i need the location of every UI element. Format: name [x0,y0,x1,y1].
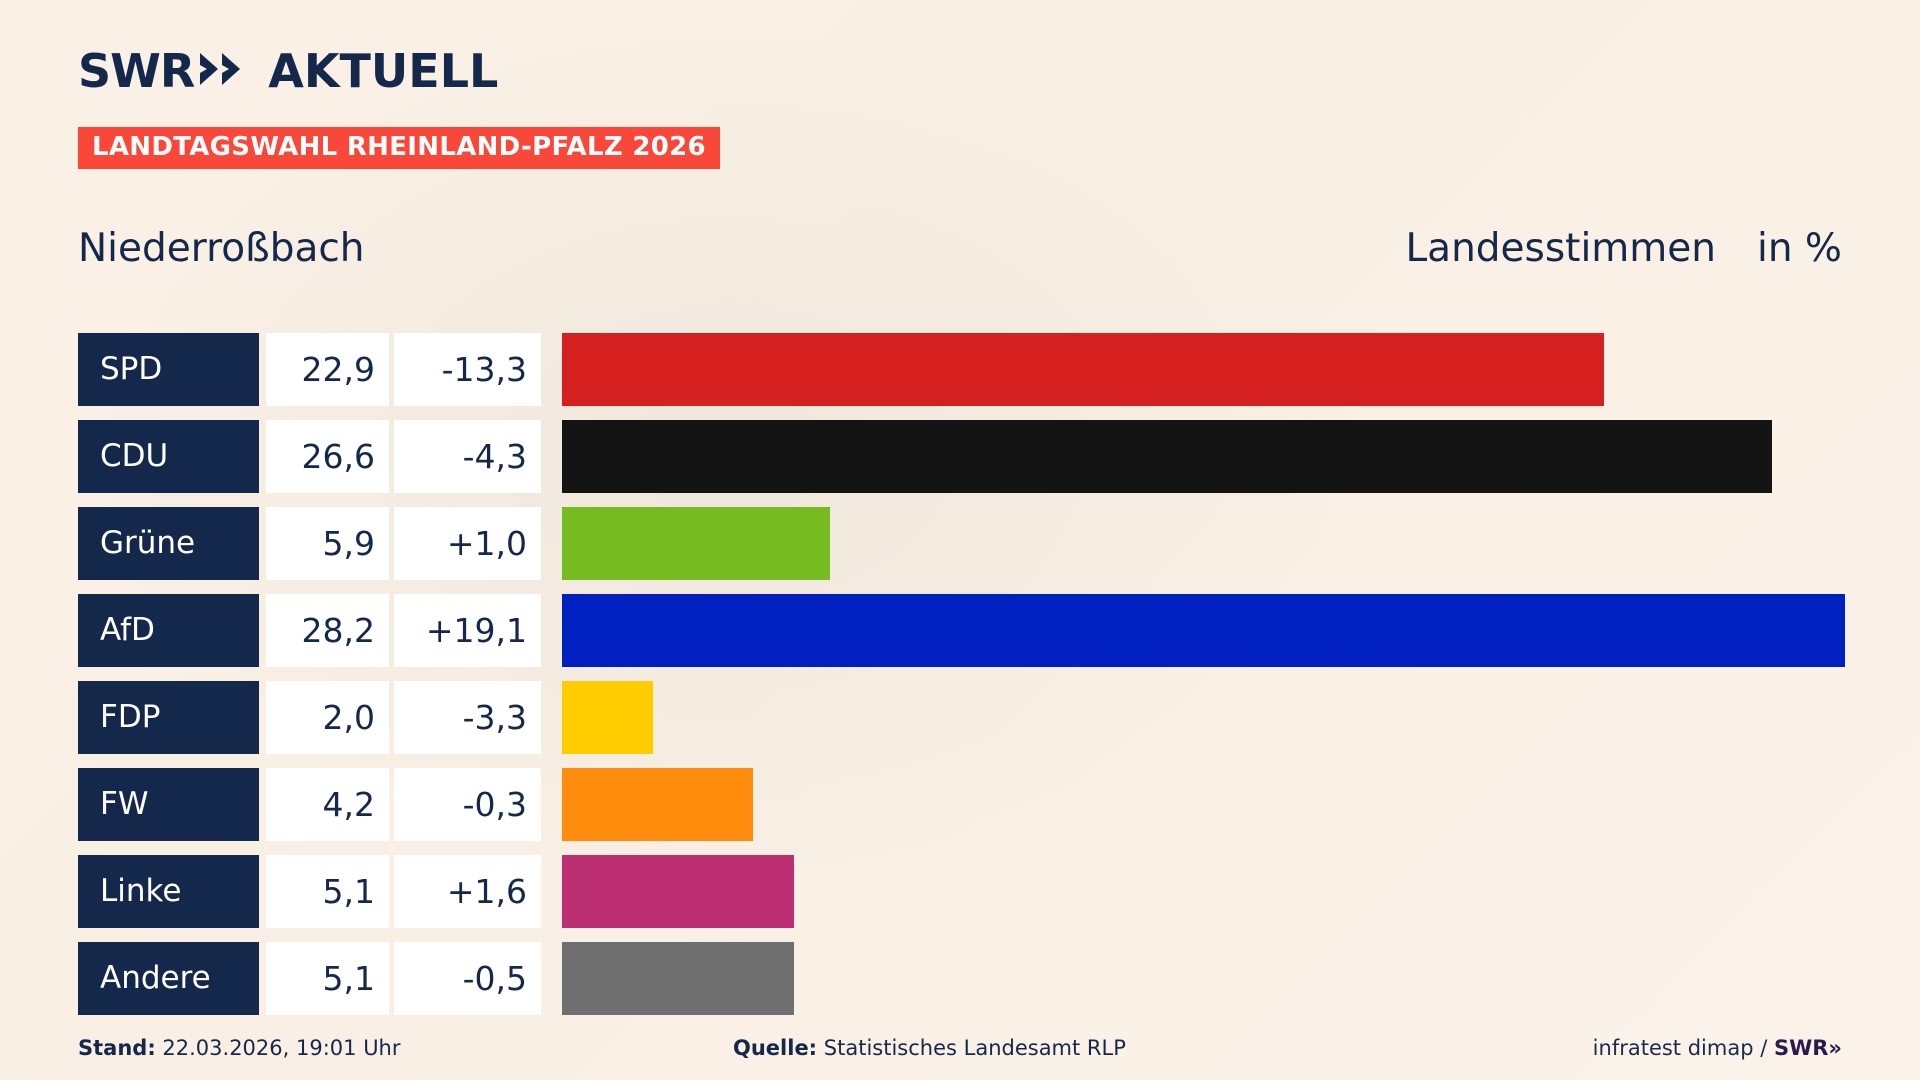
change-value: +1,6 [447,875,527,908]
percent-value: 26,6 [302,440,375,473]
party-label: FW [100,789,148,820]
source-info: Quelle: Statistisches Landesamt RLP [733,1036,1126,1060]
result-bar [562,681,653,754]
swr-aktuell-logo: SWR AKTUELL [78,48,720,94]
change-cell: +19,1 [394,594,541,667]
change-cell: +1,6 [394,855,541,928]
party-label: CDU [100,441,168,472]
party-cell: FDP [78,681,259,754]
percent-cell: 22,9 [266,333,389,406]
aktuell-wordmark: AKTUELL [268,48,498,94]
party-label: SPD [100,354,162,385]
change-cell: -3,3 [394,681,541,754]
credit-agency: infratest dimap / [1593,1036,1774,1060]
credit: infratest dimap / SWR» [1593,1036,1842,1060]
result-bar [562,768,753,841]
vote-type-label: Landesstimmen [1405,228,1716,271]
party-cell: AfD [78,594,259,667]
percent-value: 28,2 [302,614,375,647]
election-banner: LANDTAGSWAHL RHEINLAND-PFALZ 2026 [78,127,720,169]
party-cell: Linke [78,855,259,928]
percent-cell: 5,1 [266,942,389,1015]
party-cell: CDU [78,420,259,493]
change-value: -0,3 [463,788,527,821]
percent-value: 22,9 [302,353,375,386]
result-bar [562,333,1604,406]
percent-value: 2,0 [323,701,375,734]
unit-label: in % [1757,228,1842,271]
party-label: Andere [100,963,211,994]
change-cell: -0,3 [394,768,541,841]
change-value: +19,1 [426,614,527,647]
percent-cell: 2,0 [266,681,389,754]
change-cell: -13,3 [394,333,541,406]
percent-value: 4,2 [323,788,375,821]
stand-value: 22.03.2026, 19:01 Uhr [162,1036,400,1060]
party-label: Grüne [100,528,195,559]
party-label: Linke [100,876,181,907]
footer: Stand: 22.03.2026, 19:01 Uhr Quelle: Sta… [78,1036,1842,1068]
result-bar [562,594,1845,667]
percent-value: 5,1 [323,875,375,908]
party-cell: Grüne [78,507,259,580]
percent-cell: 4,2 [266,768,389,841]
result-bar [562,420,1772,493]
party-label: AfD [100,615,155,646]
percent-value: 5,1 [323,962,375,995]
change-value: -0,5 [463,962,527,995]
party-cell: SPD [78,333,259,406]
swr-wordmark: SWR [78,48,194,94]
double-chevron-icon [200,49,254,93]
stand-info: Stand: 22.03.2026, 19:01 Uhr [78,1036,401,1060]
stand-label: Stand: [78,1036,156,1060]
header: SWR AKTUELL LANDTAGSWAHL RHEINLAND-PFALZ… [78,48,720,169]
quelle-value: Statistisches Landesamt RLP [824,1036,1126,1060]
percent-value: 5,9 [323,527,375,560]
change-cell: -0,5 [394,942,541,1015]
percent-cell: 28,2 [266,594,389,667]
percent-cell: 5,9 [266,507,389,580]
change-value: -4,3 [463,440,527,473]
quelle-label: Quelle: [733,1036,817,1060]
percent-cell: 5,1 [266,855,389,928]
change-value: +1,0 [447,527,527,560]
percent-cell: 26,6 [266,420,389,493]
party-cell: FW [78,768,259,841]
change-cell: -4,3 [394,420,541,493]
party-cell: Andere [78,942,259,1015]
party-label: FDP [100,702,160,733]
change-value: -3,3 [463,701,527,734]
credit-swr: SWR» [1774,1036,1842,1060]
result-bar [562,942,794,1015]
place-name: Niederroßbach [78,228,365,271]
result-bar [562,507,830,580]
change-value: -13,3 [442,353,527,386]
change-cell: +1,0 [394,507,541,580]
result-bar [562,855,794,928]
subheader: Niederroßbach Landesstimmen in % [78,228,1842,274]
